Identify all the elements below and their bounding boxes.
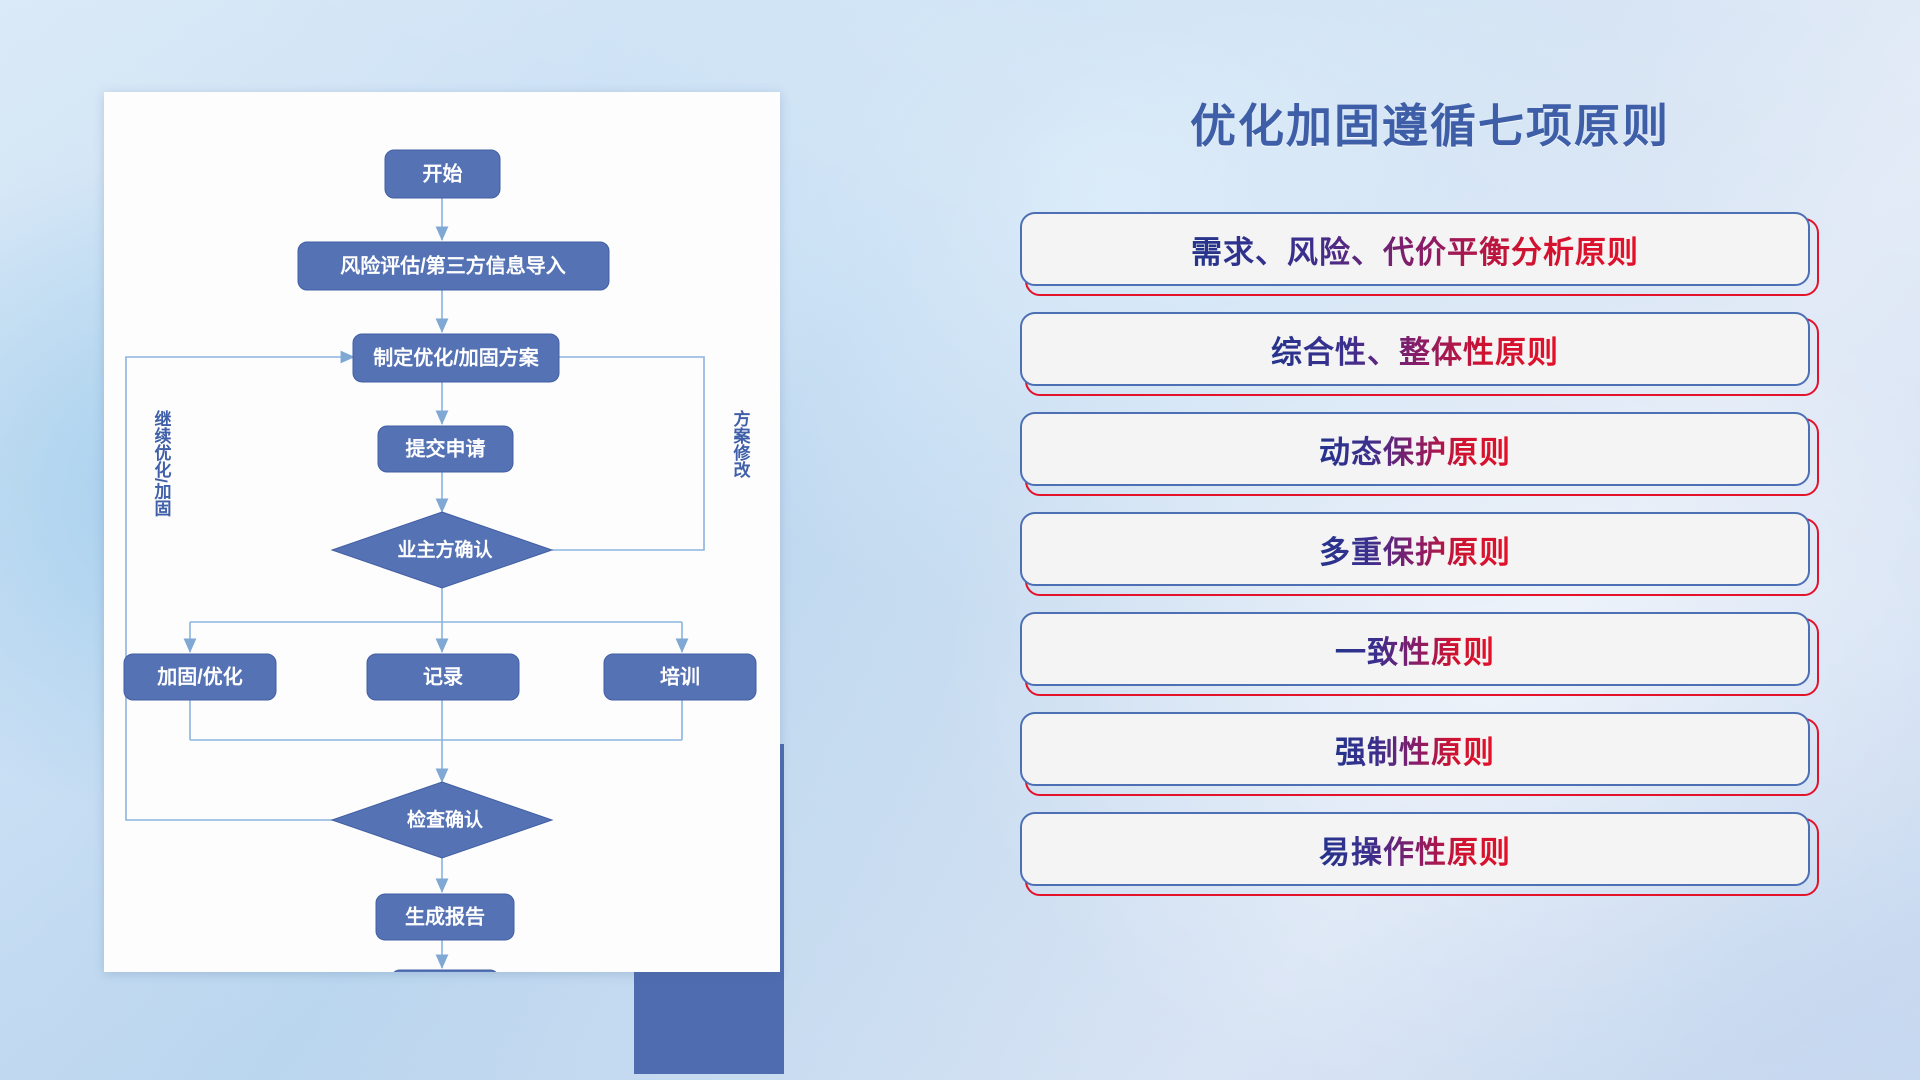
flow-node-record-label: 记录 [423,665,463,688]
principle-label: 强制性原则 [1335,727,1495,772]
principle-item-7[interactable]: 易操作性原则 [1020,812,1830,889]
flowchart-diagram: 开始 风险评估/第三方信息导入 制定优化/加固方案 提交申请 业主方确认 加固/… [104,92,780,972]
principle-label: 多重保护原则 [1319,527,1511,572]
flow-node-owner-confirm[interactable]: 业主方确认 [332,512,552,588]
flow-edge-label-revise: 方案修改 [731,409,752,479]
flow-node-risk[interactable]: 风险评估/第三方信息导入 [298,242,609,290]
flow-node-submit[interactable]: 提交申请 [378,426,513,472]
principles-list: 需求、风险、代价平衡分析原则 综合性、整体性原则 动态保护原则 多重保护原则 一 [1020,212,1830,889]
principle-box[interactable]: 动态保护原则 [1020,412,1810,486]
principle-item-4[interactable]: 多重保护原则 [1020,512,1830,589]
principle-item-3[interactable]: 动态保护原则 [1020,412,1830,489]
flow-edge-label-continue: 继续优化/加固 [152,409,173,518]
panel-title: 优化加固遵循七项原则 [1020,90,1830,156]
flow-node-start-label: 开始 [423,161,463,185]
flow-node-report[interactable]: 生成报告 [376,894,514,940]
flowchart-panel: 开始 风险评估/第三方信息导入 制定优化/加固方案 提交申请 业主方确认 加固/… [104,92,784,1002]
principle-box[interactable]: 多重保护原则 [1020,512,1810,586]
principle-item-1[interactable]: 需求、风险、代价平衡分析原则 [1020,212,1830,289]
principle-label: 综合性、整体性原则 [1271,327,1559,372]
flow-node-risk-label: 风险评估/第三方信息导入 [340,253,566,277]
flow-node-plan-label: 制定优化/加固方案 [373,345,540,369]
principles-panel: 优化加固遵循七项原则 需求、风险、代价平衡分析原则 综合性、整体性原则 动态保护… [1020,90,1830,889]
flow-node-start[interactable]: 开始 [385,150,500,198]
principle-box[interactable]: 需求、风险、代价平衡分析原则 [1020,212,1810,286]
flow-node-owner-confirm-label: 业主方确认 [397,538,492,561]
principle-box[interactable]: 一致性原则 [1020,612,1810,686]
principle-label: 易操作性原则 [1319,827,1511,872]
flow-node-submit-label: 提交申请 [406,436,486,460]
flow-node-reinforce[interactable]: 加固/优化 [124,654,276,700]
principle-label: 一致性原则 [1335,627,1495,672]
flow-node-train-label: 培训 [660,664,700,688]
flow-node-end[interactable]: 结束 [391,970,499,972]
flow-node-plan[interactable]: 制定优化/加固方案 [353,334,559,382]
principle-item-6[interactable]: 强制性原则 [1020,712,1830,789]
principle-label: 需求、风险、代价平衡分析原则 [1191,227,1639,272]
flow-node-check-label: 检查确认 [407,808,483,831]
principle-item-5[interactable]: 一致性原则 [1020,612,1830,689]
principle-box[interactable]: 强制性原则 [1020,712,1810,786]
flow-node-check[interactable]: 检查确认 [332,782,552,858]
flow-node-report-label: 生成报告 [405,904,485,928]
principle-box[interactable]: 综合性、整体性原则 [1020,312,1810,386]
principle-item-2[interactable]: 综合性、整体性原则 [1020,312,1830,389]
flow-node-record[interactable]: 记录 [367,654,519,700]
flow-node-train[interactable]: 培训 [604,654,756,700]
flow-node-reinforce-label: 加固/优化 [156,664,243,688]
principle-label: 动态保护原则 [1319,427,1511,472]
principle-box[interactable]: 易操作性原则 [1020,812,1810,886]
